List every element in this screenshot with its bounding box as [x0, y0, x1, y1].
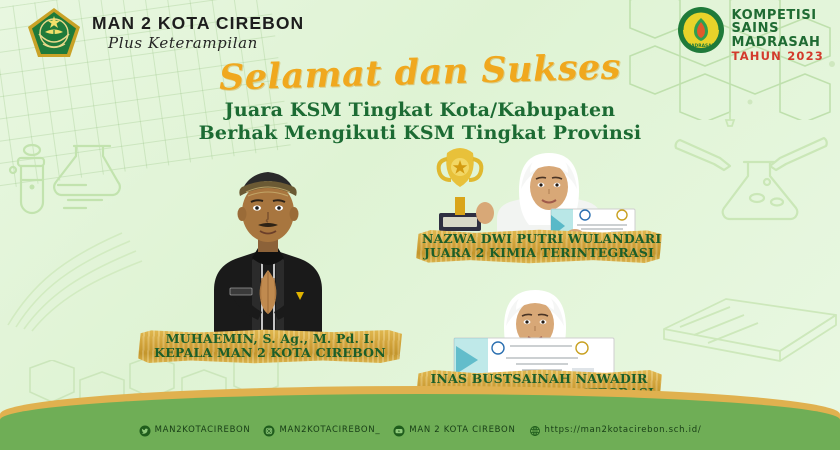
principal-name: MUHAEMIN, S. Ag., M. Pd. I.: [144, 332, 396, 346]
subtitle-line-1: Juara KSM Tingkat Kota/Kabupaten: [0, 99, 840, 121]
footer-item-instagram[interactable]: MAN2KOTACIREBON_: [263, 424, 380, 436]
principal-photo: [178, 150, 358, 350]
student-2-photo: [432, 272, 637, 384]
test-tube-doodle-icon: [6, 130, 136, 240]
principal-title: KEPALA MAN 2 KOTA CIREBON: [144, 346, 396, 360]
student-1-title: JUARA 2 KIMIA TERINTEGRASI: [422, 246, 656, 260]
student-1-photo: [425, 133, 640, 245]
footer-item-youtube[interactable]: MAN 2 KOTA CIREBON: [393, 424, 515, 436]
title-block: Selamat dan Sukses Juara KSM Tingkat Kot…: [0, 52, 840, 144]
student-2-name: INAS BUSTSAINAH NAWADIR: [422, 372, 656, 386]
school-name: MAN 2 KOTA CIREBON: [92, 15, 304, 33]
instagram-handle: MAN2KOTACIREBON_: [279, 425, 380, 435]
poster-canvas: MAN 2 KOTA CIREBON Plus Keterampilan MAD…: [0, 0, 840, 450]
youtube-icon: [393, 424, 405, 436]
twitter-icon: [139, 424, 151, 436]
ksm-line-2: SAINS: [732, 22, 824, 35]
instagram-icon: [263, 424, 275, 436]
trophy: [439, 148, 482, 231]
student-1-name-banner: NAZWA DWI PUTRI WULANDARI JUARA 2 KIMIA …: [416, 229, 662, 264]
books-doodle-icon: [660, 285, 840, 375]
youtube-channel: MAN 2 KOTA CIREBON: [409, 425, 515, 435]
subtitle-line-2: Berhak Mengikuti KSM Tingkat Provinsi: [0, 122, 840, 144]
principal-name-banner: MUHAEMIN, S. Ag., M. Pd. I. KEPALA MAN 2…: [138, 329, 402, 364]
student-1-name: NAZWA DWI PUTRI WULANDARI: [422, 232, 656, 246]
ksm-line-1: KOMPETISI: [732, 9, 824, 22]
school-identity: MAN 2 KOTA CIREBON Plus Keterampilan: [92, 15, 304, 51]
leaves-doodle-icon: [2, 215, 152, 335]
website-url: https://man2kotacirebon.sch.id/: [545, 425, 702, 435]
footer-contacts: MAN2KOTACIREBON MAN2KOTACIREBON_: [0, 419, 840, 441]
globe-icon: [529, 424, 541, 436]
school-tagline: Plus Keterampilan: [92, 36, 304, 51]
twitter-handle: MAN2KOTACIREBON: [155, 425, 251, 435]
footer-item-twitter[interactable]: MAN2KOTACIREBON: [139, 424, 251, 436]
footer-item-website[interactable]: https://man2kotacirebon.sch.id/: [529, 424, 702, 436]
